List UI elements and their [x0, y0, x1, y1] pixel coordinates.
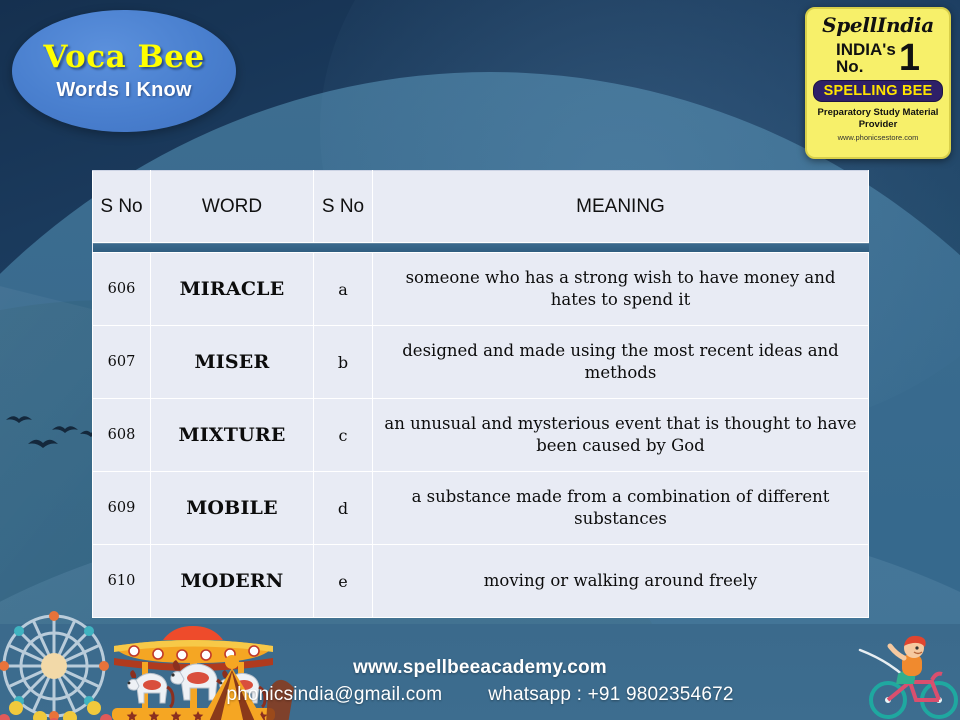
cell-word: MIRACLE [151, 253, 314, 326]
badge-brand: SpellIndia [822, 15, 934, 36]
table-row: 606 MIRACLE a someone who has a strong w… [93, 253, 869, 326]
cell-sno: 610 [93, 545, 151, 618]
cell-meaning: an unusual and mysterious event that is … [373, 399, 869, 472]
cell-letter: b [314, 326, 373, 399]
badge-spelling-bee-box: SPELLING BEE [813, 80, 944, 102]
footer-whatsapp: whatsapp : +91 9802354672 [488, 684, 733, 706]
cell-sno: 607 [93, 326, 151, 399]
cell-sno: 608 [93, 399, 151, 472]
table-body: 606 MIRACLE a someone who has a strong w… [93, 253, 869, 618]
cell-sno: 606 [93, 253, 151, 326]
table-row: 608 MIXTURE c an unusual and mysterious … [93, 399, 869, 472]
badge-url: www.phonicsestore.com [838, 133, 919, 142]
word-table: S No WORD S No MEANING 606 MIRACLE a som… [92, 170, 869, 618]
cell-meaning: someone who has a strong wish to have mo… [373, 253, 869, 326]
cell-letter: a [314, 253, 373, 326]
cell-letter: c [314, 399, 373, 472]
badge-rank-number: 1 [899, 42, 920, 75]
header-separator-bar [93, 243, 869, 253]
slide-canvas: Voca Bee Words I Know SpellIndia INDIA's… [0, 0, 960, 720]
table-header-row: S No WORD S No MEANING [93, 171, 869, 243]
table-row: 610 MODERN e moving or walking around fr… [93, 545, 869, 618]
logo-title: Voca Bee [43, 42, 204, 73]
column-header-sno-left: S No [93, 171, 151, 243]
cell-sno: 609 [93, 472, 151, 545]
badge-tagline-line1: Preparatory Study Material [818, 107, 939, 119]
header-separator-row [93, 243, 869, 253]
badge-tagline-line2: Provider [818, 119, 939, 131]
column-header-meaning: MEANING [373, 171, 869, 243]
footer-contact: www.spellbeeacademy.com phonicsindia@gma… [0, 657, 960, 706]
cell-letter: d [314, 472, 373, 545]
badge-rank-line1: INDIA's [836, 41, 896, 58]
cell-meaning: designed and made using the most recent … [373, 326, 869, 399]
table-row: 609 MOBILE d a substance made from a com… [93, 472, 869, 545]
column-header-sno-right: S No [314, 171, 373, 243]
table-row: 607 MISER b designed and made using the … [93, 326, 869, 399]
cell-word: MOBILE [151, 472, 314, 545]
table-header: S No WORD S No MEANING [93, 171, 869, 243]
badge-rank: INDIA's No. 1 [812, 41, 944, 76]
badge-rank-line2: No. [836, 58, 896, 75]
word-table-container: S No WORD S No MEANING 606 MIRACLE a som… [92, 170, 868, 618]
footer-website: www.spellbeeacademy.com [0, 657, 960, 679]
cell-word: MISER [151, 326, 314, 399]
cell-word: MIXTURE [151, 399, 314, 472]
header-separator [93, 243, 869, 253]
cell-word: MODERN [151, 545, 314, 618]
badge-tagline: Preparatory Study Material Provider [818, 107, 939, 131]
voca-bee-logo: Voca Bee Words I Know [12, 10, 236, 132]
footer-contact-row: phonicsindia@gmail.com whatsapp : +91 98… [0, 684, 960, 706]
logo-subtitle: Words I Know [56, 79, 191, 101]
cell-meaning: a substance made from a combination of d… [373, 472, 869, 545]
cell-letter: e [314, 545, 373, 618]
cell-meaning: moving or walking around freely [373, 545, 869, 618]
spellindia-badge: SpellIndia INDIA's No. 1 SPELLING BEE Pr… [805, 7, 951, 159]
footer-email: phonicsindia@gmail.com [226, 684, 442, 706]
badge-rank-text: INDIA's No. [836, 41, 896, 76]
column-header-word: WORD [151, 171, 314, 243]
